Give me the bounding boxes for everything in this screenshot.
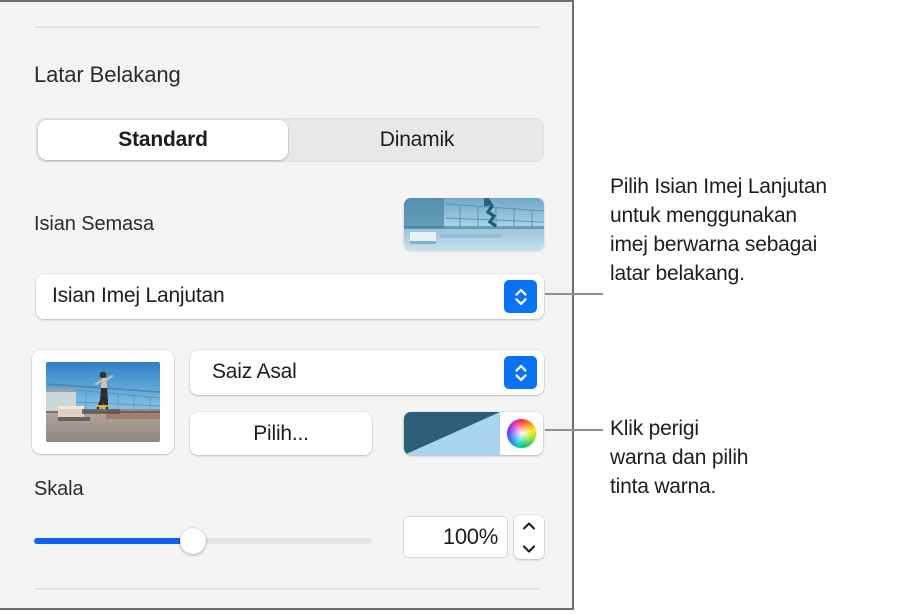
color-well[interactable] bbox=[404, 412, 543, 455]
stepper-decrement[interactable] bbox=[514, 537, 544, 559]
fill-type-popup-button[interactable]: Isian Imej Lanjutan bbox=[36, 274, 544, 319]
scale-label: Skala bbox=[34, 478, 84, 501]
color-wheel-icon bbox=[507, 419, 536, 448]
callout-color-text: Klik perigi warna dan pilih tinta warna. bbox=[610, 414, 900, 501]
choose-button[interactable]: Pilih... bbox=[190, 412, 372, 455]
chevron-up-icon bbox=[521, 521, 537, 532]
image-size-value: Saiz Asal bbox=[212, 360, 297, 384]
image-size-popup-button[interactable]: Saiz Asal bbox=[190, 350, 544, 395]
current-fill-thumbnail[interactable] bbox=[404, 198, 544, 250]
scale-stepper[interactable] bbox=[514, 515, 544, 559]
callout-leader-line-fill bbox=[545, 293, 603, 295]
color-swatch[interactable] bbox=[404, 412, 500, 455]
current-fill-image bbox=[404, 198, 544, 250]
fill-type-value: Isian Imej Lanjutan bbox=[52, 284, 224, 308]
page-title: Latar Belakang bbox=[34, 62, 181, 88]
background-inspector-panel: Latar Belakang Standard Dinamik Isian Se… bbox=[0, 0, 574, 610]
divider-bottom bbox=[34, 588, 540, 590]
image-well-thumbnail bbox=[46, 362, 160, 442]
slider-fill bbox=[34, 538, 193, 544]
chevron-updown-icon[interactable] bbox=[504, 280, 537, 313]
image-well[interactable] bbox=[32, 350, 174, 454]
current-fill-label: Isian Semasa bbox=[34, 213, 154, 236]
stepper-increment[interactable] bbox=[514, 515, 544, 537]
color-swatch-gradient bbox=[404, 412, 500, 455]
chevron-updown-glyph bbox=[512, 286, 530, 308]
scale-value-field[interactable]: 100% bbox=[404, 517, 507, 557]
divider-top bbox=[34, 26, 540, 28]
chevron-down-icon bbox=[521, 543, 537, 554]
chevron-updown-glyph bbox=[512, 362, 530, 384]
callout-fill-text: Pilih Isian Imej Lanjutan untuk mengguna… bbox=[610, 172, 920, 288]
segment-dinamik[interactable]: Dinamik bbox=[290, 118, 544, 162]
color-wheel-button[interactable] bbox=[500, 412, 543, 455]
scale-slider[interactable] bbox=[34, 528, 372, 554]
background-type-segmented-control[interactable]: Standard Dinamik bbox=[36, 118, 544, 162]
chevron-updown-icon[interactable] bbox=[504, 356, 537, 389]
slider-thumb[interactable] bbox=[180, 528, 206, 554]
segment-standard[interactable]: Standard bbox=[38, 120, 288, 160]
callout-leader-line-color bbox=[545, 429, 603, 431]
skateboarder-image bbox=[46, 362, 160, 442]
